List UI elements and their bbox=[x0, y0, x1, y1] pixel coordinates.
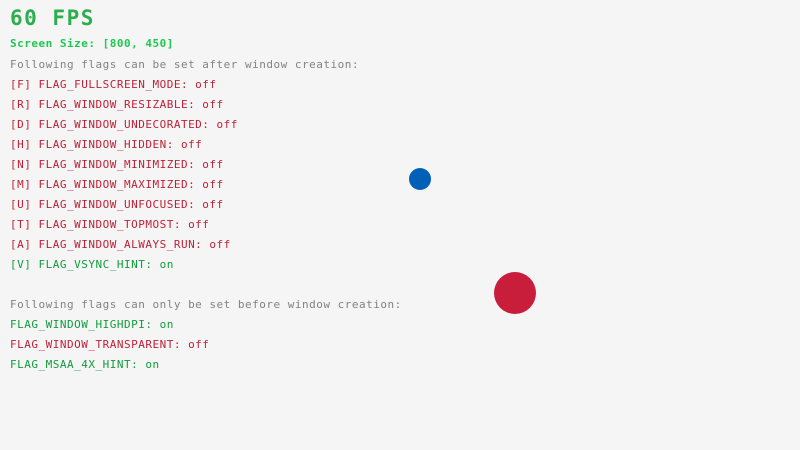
flag-flag-window-minimized[interactable]: [N] FLAG_WINDOW_MINIMIZED: off bbox=[10, 159, 224, 170]
flag-flag-window-topmost[interactable]: [T] FLAG_WINDOW_TOPMOST: off bbox=[10, 219, 209, 230]
flag-flag-window-always-run[interactable]: [A] FLAG_WINDOW_ALWAYS_RUN: off bbox=[10, 239, 231, 250]
flag-flag-window-undecorated[interactable]: [D] FLAG_WINDOW_UNDECORATED: off bbox=[10, 119, 238, 130]
maroon-ball bbox=[494, 272, 536, 314]
runtime-flags-heading: Following flags can be set after window … bbox=[10, 59, 359, 70]
flag-flag-window-maximized[interactable]: [M] FLAG_WINDOW_MAXIMIZED: off bbox=[10, 179, 224, 190]
flag-flag-window-resizable[interactable]: [R] FLAG_WINDOW_RESIZABLE: off bbox=[10, 99, 224, 110]
flag-flag-window-unfocused[interactable]: [U] FLAG_WINDOW_UNFOCUSED: off bbox=[10, 199, 224, 210]
flag-flag-fullscreen-mode[interactable]: [F] FLAG_FULLSCREEN_MODE: off bbox=[10, 79, 217, 90]
raylib-window-canvas: 60 FPS Screen Size: [800, 450] Following… bbox=[0, 0, 800, 450]
creation-flags-heading: Following flags can only be set before w… bbox=[10, 299, 402, 310]
flag-flag-window-transparent[interactable]: FLAG_WINDOW_TRANSPARENT: off bbox=[10, 339, 209, 350]
flag-flag-msaa-4x-hint[interactable]: FLAG_MSAA_4X_HINT: on bbox=[10, 359, 160, 370]
flag-flag-vsync-hint[interactable]: [V] FLAG_VSYNC_HINT: on bbox=[10, 259, 174, 270]
flag-flag-window-hidden[interactable]: [H] FLAG_WINDOW_HIDDEN: off bbox=[10, 139, 202, 150]
fps-counter: 60 FPS bbox=[10, 8, 95, 29]
flag-flag-window-highdpi[interactable]: FLAG_WINDOW_HIGHDPI: on bbox=[10, 319, 174, 330]
screen-size-label: Screen Size: [800, 450] bbox=[10, 38, 174, 49]
blue-ball bbox=[409, 168, 431, 190]
